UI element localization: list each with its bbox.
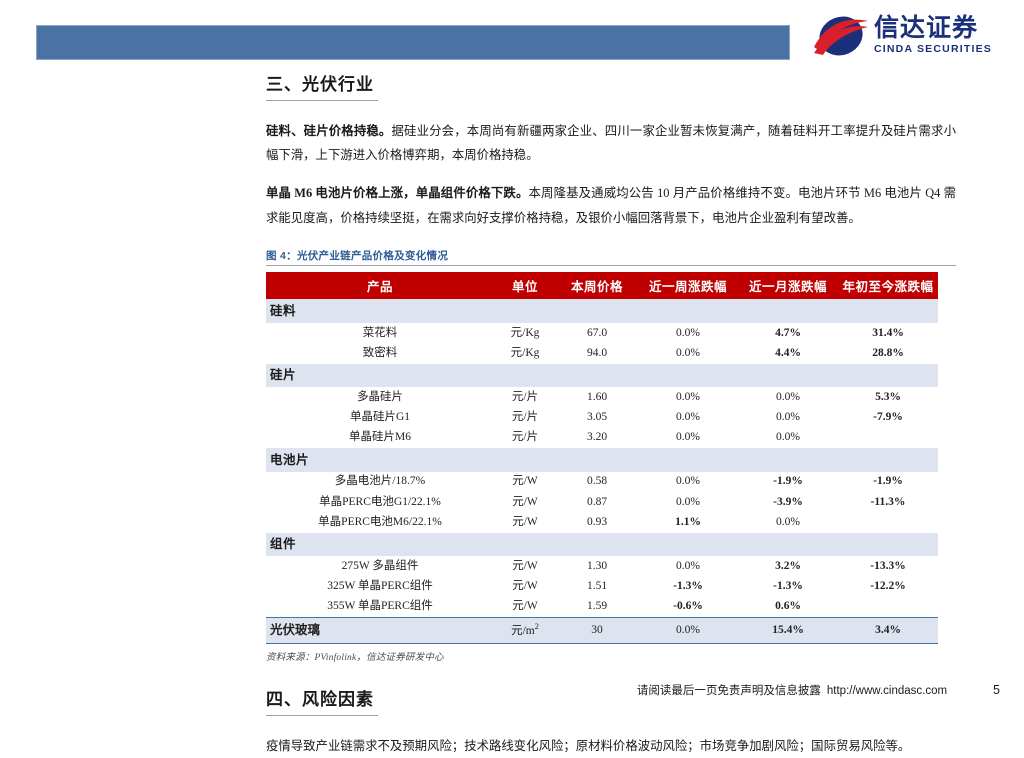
cell-product: 菜花料 [266,323,494,343]
cell-ytd-change: 3.4% [838,618,938,644]
cell-unit: 元/W [494,512,556,532]
company-logo: 信达证券 CINDA SECURITIES [812,8,1012,64]
cell-ytd-change: 28.8% [838,343,938,363]
cell-product: 单晶硅片G1 [266,408,494,428]
cinda-logo-mark-icon [812,14,870,58]
cell-unit: 元/片 [494,408,556,428]
table-row: 355W 单晶PERC组件元/W1.59-0.6%0.6% [266,597,938,618]
cell-week-change: 0.0% [638,387,738,407]
cell-month-change: -1.3% [738,577,838,597]
logo-chinese-name: 信达证券 [874,16,1014,41]
cell-unit: 元/W [494,472,556,492]
cell-product: 光伏玻璃 [266,618,494,644]
cell-unit: 元/片 [494,428,556,448]
cell-week-price: 1.60 [556,387,638,407]
table-row: 单晶硅片G1元/片3.050.0%0.0%-7.9% [266,408,938,428]
page-number: 5 [993,683,1000,697]
table-row: 多晶电池片/18.7%元/W0.580.0%-1.9%-1.9% [266,472,938,492]
paragraph-lead-1: 硅料、硅片价格持稳。 [266,124,391,138]
cell-month-change: 0.0% [738,428,838,448]
logo-english-name: CINDA SECURITIES [874,44,1014,55]
header-blue-bar [36,25,790,60]
cell-week-change: -1.3% [638,577,738,597]
cell-week-price: 94.0 [556,343,638,363]
cell-ytd-change: 31.4% [838,323,938,343]
cell-unit: 元/m2 [494,618,556,644]
cell-ytd-change: -12.2% [838,577,938,597]
col-header-week-price: 本周价格 [556,273,638,299]
table-row: 单晶硅片M6元/片3.200.0%0.0% [266,428,938,448]
cell-week-change: 0.0% [638,323,738,343]
section-heading-three: 三、光伏行业 [266,70,378,101]
cell-week-change: 0.0% [638,492,738,512]
cell-month-change: 0.6% [738,597,838,618]
page-header: 信达证券 CINDA SECURITIES [0,0,1024,72]
cell-week-price: 30 [556,618,638,644]
cell-unit: 元/W [494,577,556,597]
cell-product: 多晶硅片 [266,387,494,407]
cell-ytd-change: -1.9% [838,472,938,492]
paragraph-silicon-price: 硅料、硅片价格持稳。据硅业分会，本周尚有新疆两家企业、四川一家企业暂未恢复满产，… [266,119,956,167]
cell-month-change: -1.9% [738,472,838,492]
figure-caption-rule [266,265,956,266]
table-header-row: 产品 单位 本周价格 近一周涨跌幅 近一月涨跌幅 年初至今涨跌幅 [266,273,938,299]
cell-month-change: 4.7% [738,323,838,343]
cell-week-price: 0.87 [556,492,638,512]
cell-month-change: 0.0% [738,512,838,532]
cell-ytd-change [838,512,938,532]
group-label: 组件 [266,533,938,557]
table-source-note: 资料来源：PVinfolink，信达证券研发中心 [266,649,956,663]
cell-ytd-change: -11.3% [838,492,938,512]
cell-ytd-change [838,428,938,448]
cell-ytd-change: -13.3% [838,556,938,576]
cell-ytd-change [838,597,938,618]
cell-unit: 元/W [494,492,556,512]
table-body: 硅料菜花料元/Kg67.00.0%4.7%31.4%致密料元/Kg94.00.0… [266,299,938,643]
figure-caption: 图 4：光伏产业链产品价格及变化情况 [266,248,956,263]
cell-product: 275W 多晶组件 [266,556,494,576]
table-group-row: 硅料 [266,299,938,323]
cell-product: 致密料 [266,343,494,363]
cell-week-change: 0.0% [638,408,738,428]
table-row: 多晶硅片元/片1.600.0%0.0%5.3% [266,387,938,407]
paragraph-cell-module-price: 单晶 M6 电池片价格上涨，单晶组件价格下跌。本周隆基及通威均公告 10 月产品… [266,181,956,229]
table-header: 产品 单位 本周价格 近一周涨跌幅 近一月涨跌幅 年初至今涨跌幅 [266,273,938,299]
cell-unit: 元/Kg [494,323,556,343]
cell-product: 355W 单晶PERC组件 [266,597,494,618]
col-header-unit: 单位 [494,273,556,299]
cell-unit: 元/W [494,556,556,576]
cell-ytd-change: -7.9% [838,408,938,428]
cell-week-price: 3.05 [556,408,638,428]
paragraph-lead-2: 单晶 M6 电池片价格上涨，单晶组件价格下跌。 [266,186,529,200]
cell-week-change: 0.0% [638,556,738,576]
cell-ytd-change: 5.3% [838,387,938,407]
col-header-month-change: 近一月涨跌幅 [738,273,838,299]
table-row: 单晶PERC电池G1/22.1%元/W0.870.0%-3.9%-11.3% [266,492,938,512]
cell-product: 单晶硅片M6 [266,428,494,448]
col-header-product: 产品 [266,273,494,299]
cell-week-change: 0.0% [638,343,738,363]
cell-product: 单晶PERC电池G1/22.1% [266,492,494,512]
table-row: 单晶PERC电池M6/22.1%元/W0.931.1%0.0% [266,512,938,532]
table-total-row: 光伏玻璃元/m2300.0%15.4%3.4% [266,618,938,644]
paragraph-risk-factors: 疫情导致产业链需求不及预期风险；技术路线变化风险；原材料价格波动风险；市场竞争加… [266,734,956,758]
group-label: 硅片 [266,364,938,388]
cell-unit: 元/W [494,597,556,618]
table-row: 275W 多晶组件元/W1.300.0%3.2%-13.3% [266,556,938,576]
cell-week-change: 0.0% [638,472,738,492]
document-content: 三、光伏行业 硅料、硅片价格持稳。据硅业分会，本周尚有新疆两家企业、四川一家企业… [266,70,956,758]
cell-week-change: 0.0% [638,428,738,448]
pv-price-table: 产品 单位 本周价格 近一周涨跌幅 近一月涨跌幅 年初至今涨跌幅 硅料菜花料元/… [266,273,938,644]
cell-month-change: -3.9% [738,492,838,512]
cell-month-change: 3.2% [738,556,838,576]
col-header-ytd-change: 年初至今涨跌幅 [838,273,938,299]
cell-month-change: 0.0% [738,408,838,428]
cell-week-price: 1.51 [556,577,638,597]
cell-week-change: 0.0% [638,618,738,644]
cell-week-price: 67.0 [556,323,638,343]
cell-month-change: 15.4% [738,618,838,644]
table-row: 菜花料元/Kg67.00.0%4.7%31.4% [266,323,938,343]
table-group-row: 硅片 [266,364,938,388]
group-label: 电池片 [266,448,938,472]
cell-week-price: 0.93 [556,512,638,532]
cell-product: 325W 单晶PERC组件 [266,577,494,597]
cell-unit: 元/片 [494,387,556,407]
cell-week-price: 0.58 [556,472,638,492]
table-group-row: 电池片 [266,448,938,472]
logo-text: 信达证券 CINDA SECURITIES [874,16,1014,55]
group-label: 硅料 [266,299,938,323]
cell-month-change: 0.0% [738,387,838,407]
cell-month-change: 4.4% [738,343,838,363]
cell-unit: 元/Kg [494,343,556,363]
col-header-week-change: 近一周涨跌幅 [638,273,738,299]
footer-website-link[interactable]: http://www.cindasc.com [827,685,947,697]
table-row: 325W 单晶PERC组件元/W1.51-1.3%-1.3%-12.2% [266,577,938,597]
footer-disclaimer: 请阅读最后一页免责声明及信息披露 [637,682,821,698]
cell-week-price: 1.59 [556,597,638,618]
cell-week-change: -0.6% [638,597,738,618]
table-group-row: 组件 [266,533,938,557]
cell-product: 单晶PERC电池M6/22.1% [266,512,494,532]
cell-week-change: 1.1% [638,512,738,532]
cell-week-price: 3.20 [556,428,638,448]
cell-week-price: 1.30 [556,556,638,576]
cell-product: 多晶电池片/18.7% [266,472,494,492]
page-footer: 请阅读最后一页免责声明及信息披露 http://www.cindasc.com … [0,682,1024,702]
table-row: 致密料元/Kg94.00.0%4.4%28.8% [266,343,938,363]
